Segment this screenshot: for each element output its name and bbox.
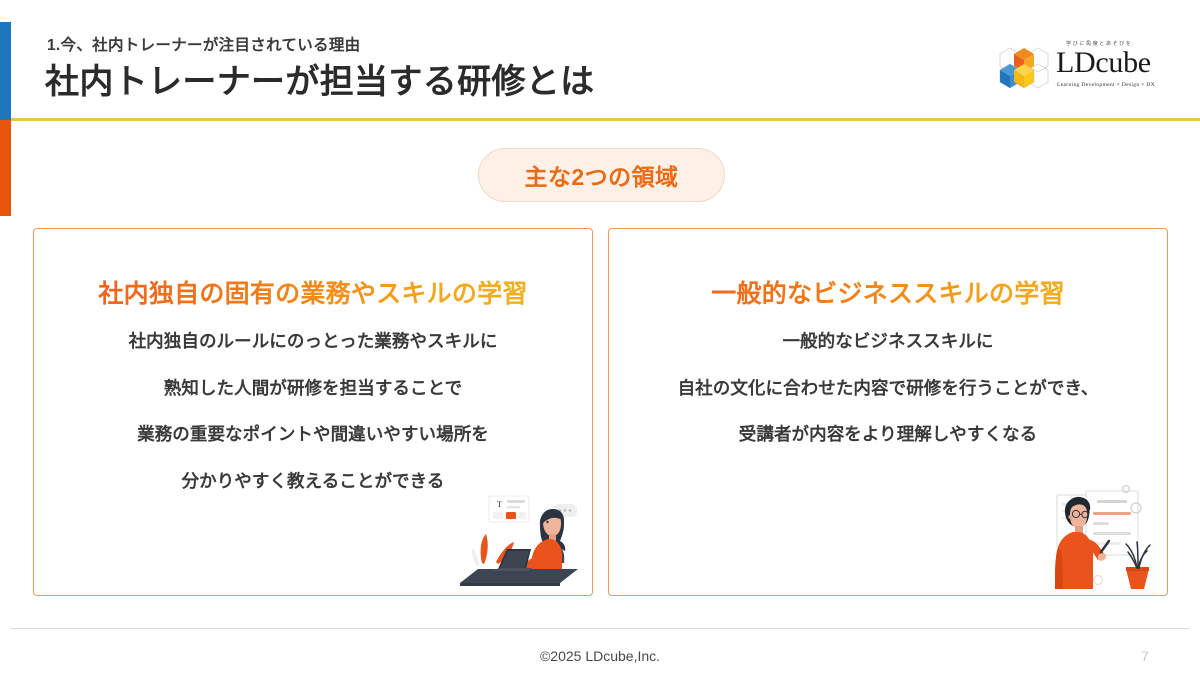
card-body-line: 社内独自のルールにのっとった業務やスキルに [34,333,592,351]
card-body-line: 熟知した人間が研修を担当することで [34,380,592,398]
logo-wordmark: LDcube [1056,48,1151,78]
card-heading: 一般的なビジネススキルの学習 [609,274,1167,310]
footer-divider [11,628,1189,629]
card-body: 一般的なビジネススキルに 自社の文化に合わせた内容で研修を行うことができ、 受講… [609,333,1167,473]
card-body-line: 自社の文化に合わせた内容で研修を行うことができ、 [609,380,1167,398]
card-body-line: 業務の重要なポイントや間違いやすい場所を [34,426,592,444]
section-badge: 主な2つの領域 [478,148,725,202]
accent-bar-orange [0,120,11,216]
svg-text:T: T [497,500,502,509]
card-body-line: 受講者が内容をより理解しやすくなる [609,426,1167,444]
page-number: 7 [1130,648,1160,664]
ldcube-logo: 学びに角度とあそびを LDcube Learning Development ×… [996,38,1186,100]
card-body-line: 一般的なビジネススキルに [609,333,1167,351]
person-writing-on-board-illustration [1043,481,1161,593]
copyright-text: ©2025 LDcube,Inc. [0,648,1200,664]
page-title: 社内トレーナーが担当する研修とは [45,54,594,103]
cube-logo-icon [996,40,1052,96]
card-heading: 社内独自の固有の業務やスキルの学習 [34,274,592,310]
section-eyebrow: 1.今、社内トレーナーが注目されている理由 [47,33,360,55]
header-divider [11,118,1200,121]
slide: 1.今、社内トレーナーが注目されている理由 社内トレーナーが担当する研修とは [0,0,1200,675]
card-general-business-skills: 一般的なビジネススキルの学習 一般的なビジネススキルに 自社の文化に合わせた内容… [608,228,1168,596]
card-internal-skills: 社内独自の固有の業務やスキルの学習 社内独自のルールにのっとった業務やスキルに … [33,228,593,596]
section-badge-label: 主な2つの領域 [524,158,678,192]
card-body-line: 分かりやすく教えることができる [34,473,592,491]
logo-wordmark-group: 学びに角度とあそびを LDcube Learning Development ×… [1056,38,1184,98]
person-at-laptop-illustration: T [452,491,584,591]
logo-subtitle: Learning Development × Design × DX [1057,82,1155,88]
